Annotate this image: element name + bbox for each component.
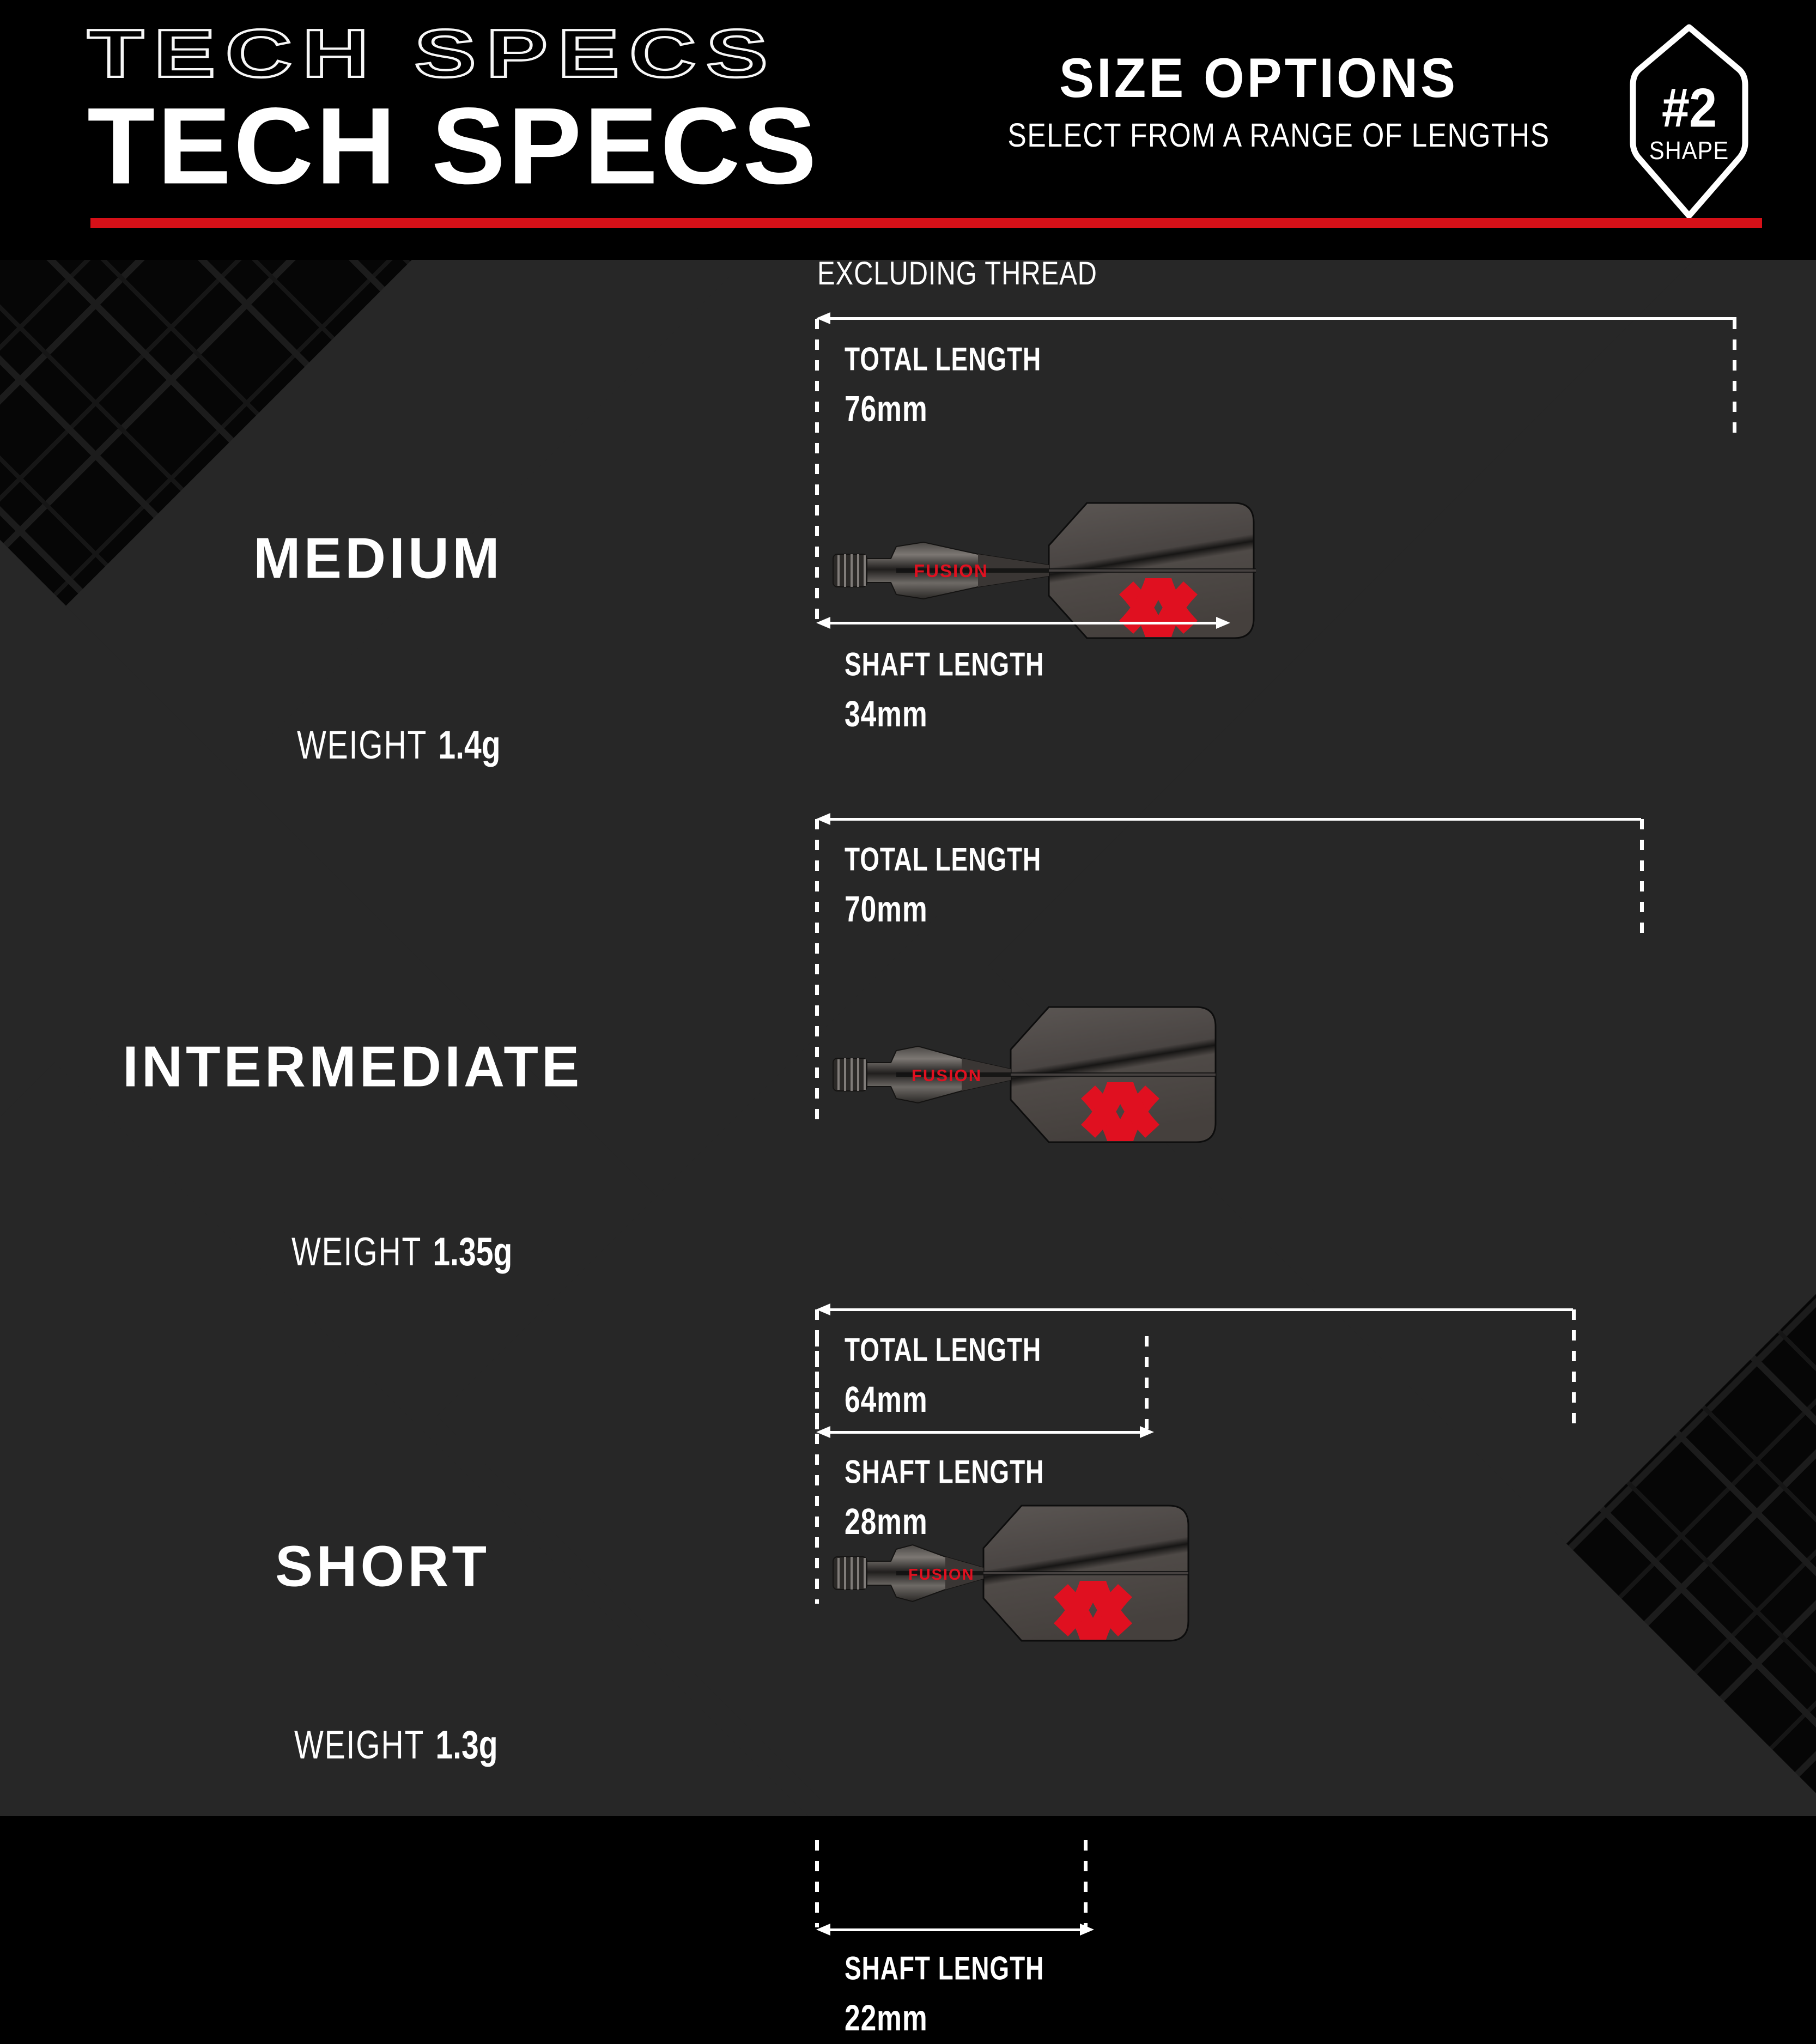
total-length-arrow-intermediate (816, 813, 1647, 825)
dart-illustration-intermediate: FUSION (815, 998, 1665, 1151)
shaft-length-label: SHAFT LENGTH (845, 1950, 1044, 1986)
shaft-fusion-logo: FUSION (908, 1566, 975, 1584)
total-length-block-short: TOTAL LENGTH 64mm (845, 1327, 1041, 1426)
excluding-thread-note: EXCLUDING THREAD (817, 257, 1097, 290)
weight-label: WEIGHT (294, 1723, 424, 1767)
total-length-block-medium: TOTAL LENGTH 76mm (845, 336, 1041, 435)
arrow-shaft (822, 1928, 1088, 1931)
size-options-subtitle: SELECT FROM A RANGE OF LENGTHS (1007, 116, 1509, 155)
arrow-shaft (822, 1431, 1148, 1434)
weight-value: 1.4g (438, 723, 500, 767)
total-length-value: 70mm (845, 883, 1041, 935)
weight-value: 1.3g (435, 1723, 497, 1767)
guide-line-total-right-intermediate (1640, 819, 1644, 939)
weight-value: 1.35g (433, 1230, 512, 1274)
shaft-length-label: SHAFT LENGTH (845, 1453, 1044, 1490)
arrow-shaft (822, 1308, 1573, 1311)
total-length-label: TOTAL LENGTH (845, 1331, 1041, 1368)
shaft-fusion-logo: FUSION (914, 561, 988, 581)
dart-illustration-short: FUSION (815, 1497, 1594, 1649)
weight-label: WEIGHT (291, 1230, 422, 1274)
total-length-value: 76mm (845, 383, 1041, 434)
arrow-shaft (822, 317, 1736, 320)
weight-label: WEIGHT (297, 723, 427, 767)
guide-line-shaft-left-short (815, 1840, 819, 1927)
shaft-length-arrow-short (816, 1924, 1094, 1936)
badge-label: SHAPE (1630, 138, 1749, 164)
size-name-intermediate: INTERMEDIATE (123, 1038, 582, 1096)
spec-sections: EXCLUDING THREAD TOTAL LENGTH 76mm MEDIU… (0, 260, 1816, 1816)
header-bar: TECH SPECS TECH SPECS SIZE OPTIONS SELEC… (0, 0, 1816, 260)
guide-line-shaft-right-intermediate (1145, 1336, 1149, 1432)
guide-line-total-right-medium (1733, 319, 1736, 439)
title-group: TECH SPECS TECH SPECS (87, 20, 937, 199)
total-length-block-intermediate: TOTAL LENGTH 70mm (845, 836, 1041, 935)
size-options-heading: SIZE OPTIONS (992, 50, 1526, 107)
total-length-arrow-medium (816, 312, 1742, 324)
arrow-head-right (1140, 1426, 1154, 1438)
shaft-thread (833, 1058, 867, 1091)
accent-divider (90, 218, 1762, 228)
badge-number: #2 (1626, 81, 1752, 136)
size-options-group: SIZE OPTIONS SELECT FROM A RANGE OF LENG… (992, 50, 1526, 150)
shaft-fusion-logo: FUSION (912, 1066, 982, 1085)
arrow-head-right (1216, 617, 1230, 629)
shaft-thread (833, 1557, 867, 1590)
weight-block-medium: WEIGHT1.4g (297, 726, 501, 766)
arrow-head-right (1080, 1924, 1094, 1936)
total-length-value: 64mm (845, 1373, 1041, 1425)
arrow-shaft (822, 622, 1224, 624)
shaft-length-value: 34mm (845, 688, 1044, 739)
shaft-length-block-medium: SHAFT LENGTH 34mm (845, 641, 1044, 740)
size-name-short: SHORT (275, 1538, 490, 1596)
weight-block-intermediate: WEIGHT1.35g (291, 1233, 512, 1272)
arrow-shaft (822, 818, 1641, 821)
shaft-length-label: SHAFT LENGTH (845, 646, 1044, 682)
guide-line-shaft-right-short (1084, 1840, 1088, 1927)
shaft-thread (833, 554, 867, 587)
shaft-length-arrow-medium (816, 617, 1230, 629)
total-length-label: TOTAL LENGTH (845, 341, 1041, 377)
weight-block-short: WEIGHT1.3g (294, 1726, 498, 1766)
size-name-medium: MEDIUM (253, 530, 503, 587)
total-length-arrow-short (816, 1303, 1579, 1315)
guide-line-total-right-short (1572, 1309, 1576, 1424)
total-length-label: TOTAL LENGTH (845, 841, 1041, 877)
shaft-length-block-short: SHAFT LENGTH 22mm (845, 1945, 1044, 2044)
shape-badge: #2 SHAPE (1626, 22, 1752, 221)
shaft-length-arrow-intermediate (816, 1426, 1154, 1438)
page-title: TECH SPECS (87, 92, 819, 201)
page-title-ghost: TECH SPECS (87, 20, 778, 88)
shaft-length-value: 22mm (845, 1992, 1044, 2043)
